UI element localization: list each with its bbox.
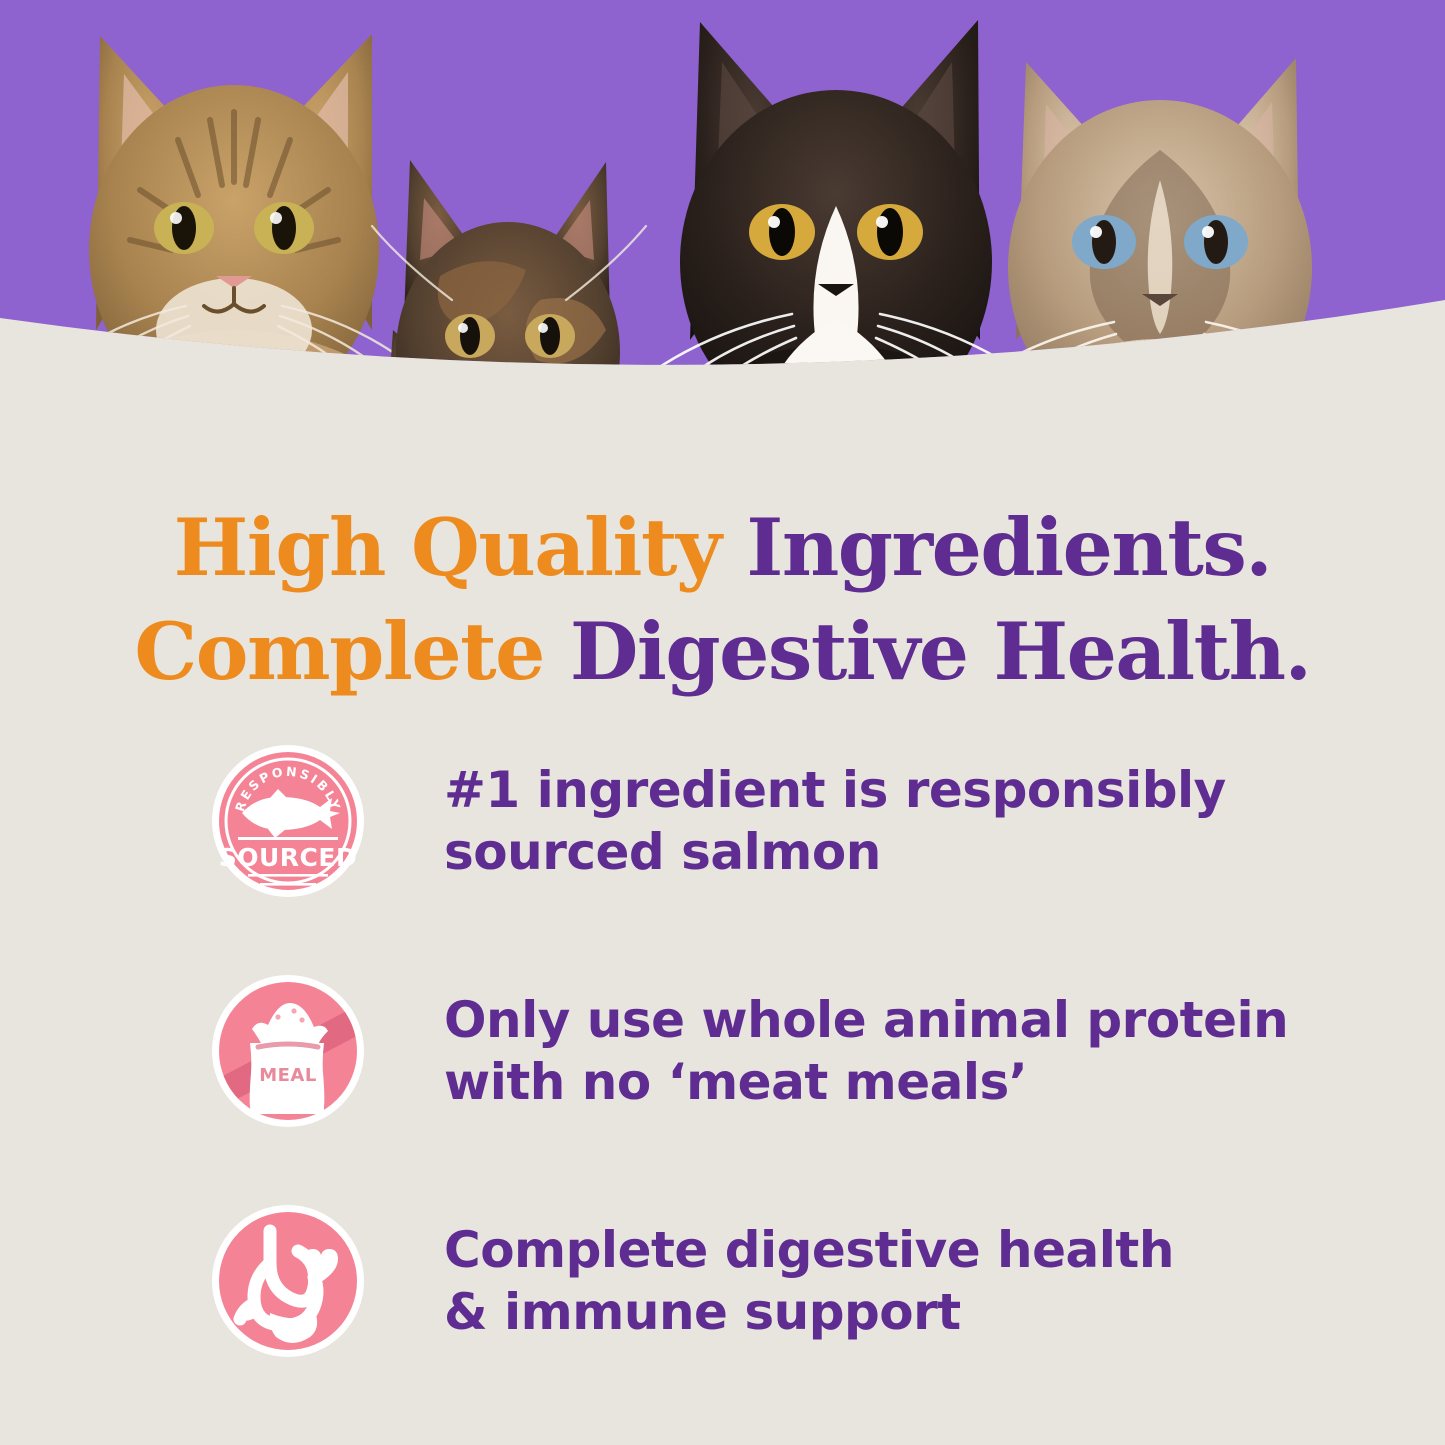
feature-text-line-2: with no ‘meat meals’ <box>444 1051 1328 1113</box>
feature-text-line-2: & immune support <box>444 1281 1328 1343</box>
promo-infographic-page: High Quality Ingredients. Complete Diges… <box>0 0 1445 1445</box>
feature-text-line-2: sourced salmon <box>444 821 1328 883</box>
feature-text-line-1: Complete digestive health <box>444 1221 1174 1279</box>
stomach-heart-digestive-health-icon <box>208 1201 368 1361</box>
feature-list: RESPONSIBLY SOURCED #1 ingredient is res… <box>208 726 1328 1416</box>
no-meat-meal-bag-icon: MEAL <box>208 971 368 1131</box>
feature-item: MEAL Only use whole animal protein with … <box>208 956 1328 1146</box>
feature-text-line-1: Only use whole animal protein <box>444 991 1288 1049</box>
headline-line-1: High Quality Ingredients. <box>0 496 1445 600</box>
headline-line-2-purple: Digestive Health. <box>570 605 1311 698</box>
cat-tuxedo <box>652 20 1020 400</box>
badge-main-text: SOURCED <box>219 843 358 872</box>
feature-text-line-1: #1 ingredient is responsibly <box>444 761 1226 819</box>
headline-line-1-orange: High Quality <box>174 501 747 594</box>
feature-text: #1 ingredient is responsibly sourced sal… <box>444 759 1328 883</box>
feature-item: RESPONSIBLY SOURCED #1 ingredient is res… <box>208 726 1328 916</box>
page-title: High Quality Ingredients. Complete Diges… <box>0 496 1445 704</box>
feature-item: Complete digestive health & immune suppo… <box>208 1186 1328 1376</box>
hero-cats-illustration <box>0 0 1445 400</box>
cats-hero-banner <box>0 0 1445 400</box>
responsibly-sourced-fish-badge-icon: RESPONSIBLY SOURCED <box>208 741 368 901</box>
headline-line-2-orange: Complete <box>134 605 569 698</box>
feature-text: Only use whole animal protein with no ‘m… <box>444 989 1328 1113</box>
headline-line-2: Complete Digestive Health. <box>0 600 1445 704</box>
bag-label-text: MEAL <box>259 1065 317 1086</box>
feature-text: Complete digestive health & immune suppo… <box>444 1219 1328 1343</box>
headline-line-1-purple: Ingredients. <box>746 501 1271 594</box>
